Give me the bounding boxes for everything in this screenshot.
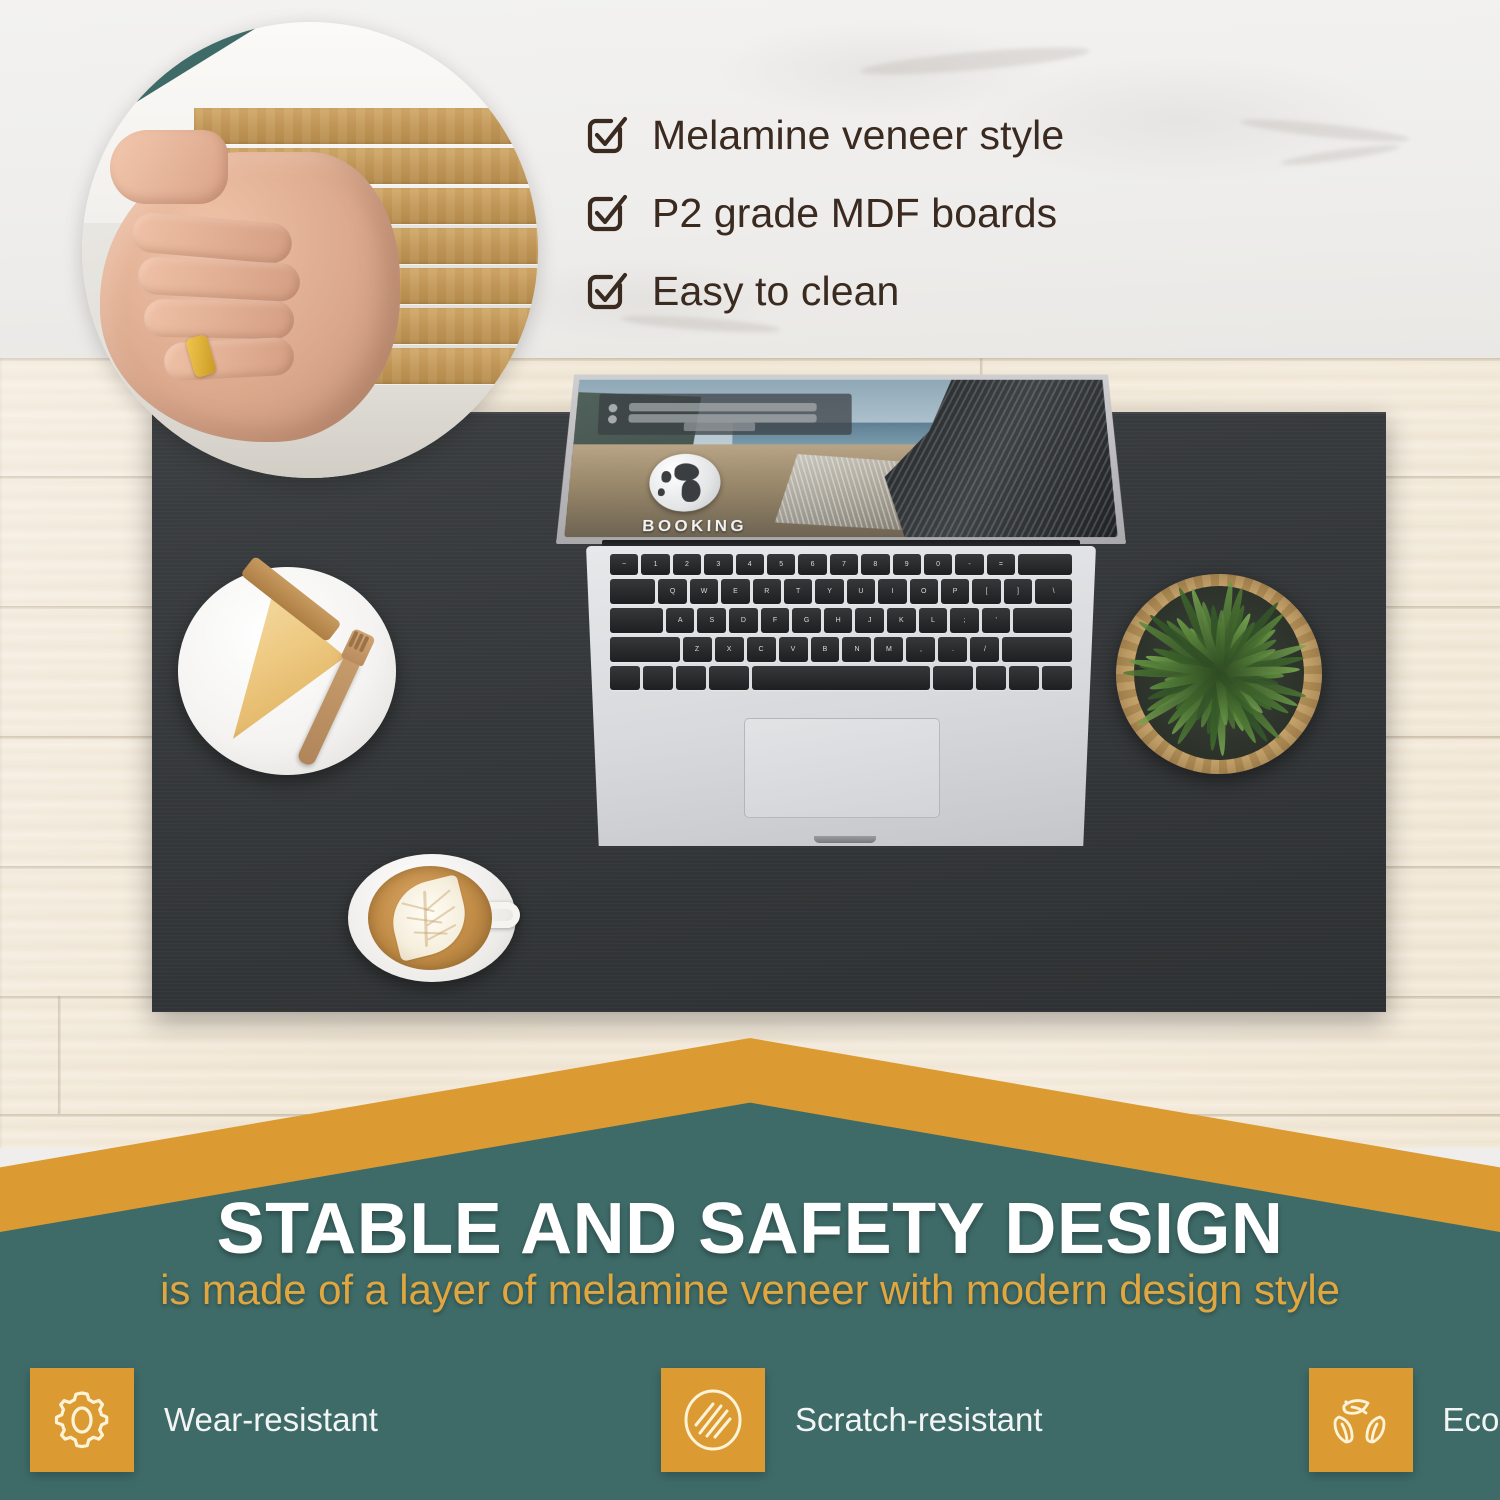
banner-subline: is made of a layer of melamine veneer wi… (0, 1266, 1500, 1314)
latte-art (384, 874, 473, 962)
bullet-item: P2 grade MDF boards (584, 174, 1224, 252)
booking-label: BOOKING (642, 516, 747, 536)
bullet-item: Melamine veneer style (584, 96, 1224, 174)
checkbox-check-icon (584, 191, 628, 235)
checkbox-check-icon (584, 113, 628, 157)
feature-label: Wear-resistant (164, 1401, 378, 1439)
feature-scratch-resistant: Scratch-resistant (661, 1368, 1043, 1472)
banner-headline: STABLE AND SAFETY DESIGN (0, 1188, 1500, 1270)
feature-bullet-list: Melamine veneer style P2 grade MDF board… (584, 96, 1224, 330)
thumb (110, 130, 228, 204)
feature-label: Eco-friendly (1443, 1401, 1500, 1439)
feature-wear-resistant: Wear-resistant (30, 1368, 378, 1472)
feature-badges: Wear-resistant Scratch-resistant (0, 1360, 1500, 1480)
laptop-trackpad (744, 718, 940, 818)
bullet-label: P2 grade MDF boards (652, 190, 1057, 237)
laptop-keyboard: ~123 4567 890- = QWER TYUI OP[] \ ASDF G… (610, 554, 1072, 704)
coffee-cup (352, 856, 512, 980)
plate-with-quiche (178, 567, 396, 775)
laptop-notch (814, 836, 876, 843)
bullet-item: Easy to clean (584, 252, 1224, 330)
feature-label: Scratch-resistant (795, 1401, 1043, 1439)
bullet-label: Easy to clean (652, 268, 899, 315)
bullet-label: Melamine veneer style (652, 112, 1064, 159)
feature-eco-friendly: Eco-friendly (1309, 1368, 1500, 1472)
checkbox-check-icon (584, 269, 628, 313)
product-infographic: BOOKING ~123 4567 890- = QWER TYUI OP[] … (0, 0, 1500, 1500)
laptop-lid: BOOKING (556, 374, 1126, 544)
leaf-recycle-icon (1309, 1368, 1413, 1472)
scratch-icon (661, 1368, 765, 1472)
laptop-screen: BOOKING (564, 380, 1117, 537)
gear-icon (30, 1368, 134, 1472)
potted-plant (1104, 558, 1334, 788)
laptop: BOOKING ~123 4567 890- = QWER TYUI OP[] … (556, 366, 1126, 876)
browser-window-overlay (597, 394, 852, 436)
mdf-board-inset-photo (82, 22, 538, 478)
